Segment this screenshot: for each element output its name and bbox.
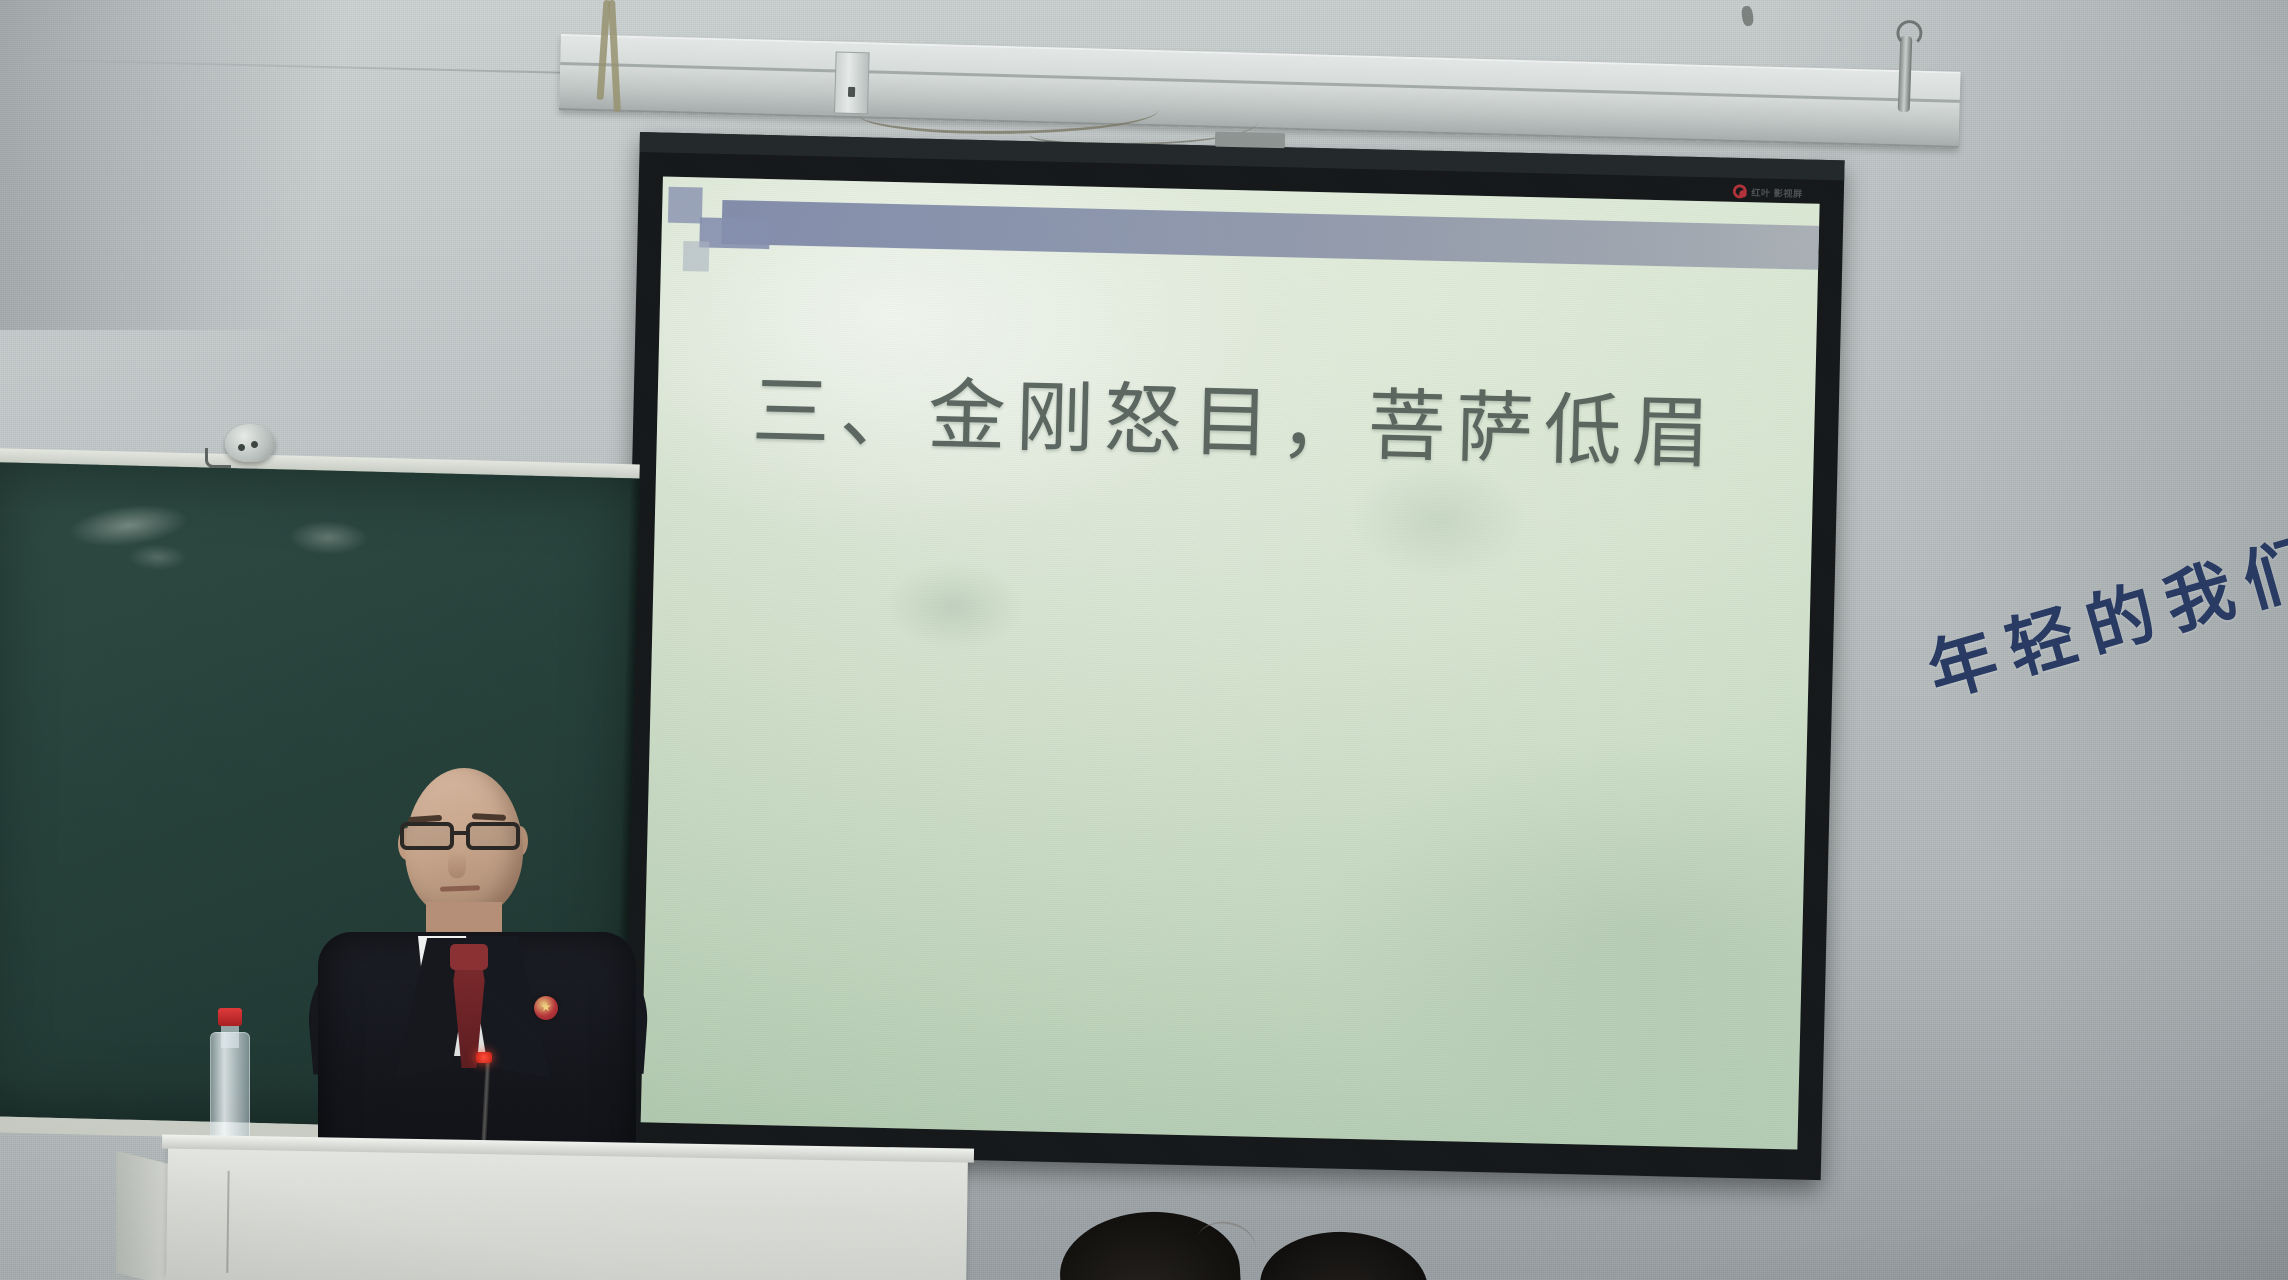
podium-left-face bbox=[116, 1151, 174, 1280]
chalk-smudge-b bbox=[288, 520, 369, 556]
brand-logo-icon bbox=[1733, 184, 1747, 198]
podium-seam bbox=[226, 1171, 229, 1273]
glasses-lens-left bbox=[400, 822, 454, 850]
necktie-knot bbox=[450, 944, 488, 970]
podium bbox=[166, 1146, 968, 1280]
screen-frame: 红叶 影视屏 三、金刚怒目，菩萨低眉 bbox=[616, 132, 1845, 1180]
sensor-lens-b bbox=[251, 441, 258, 448]
screen-roller-cap bbox=[1215, 132, 1285, 149]
lecture-hall-photo: 红叶 影视屏 三、金刚怒目，菩萨低眉 年轻的我们 bbox=[0, 0, 2288, 1280]
wall-sensor-icon bbox=[225, 424, 275, 462]
slide-decor-chip-b bbox=[683, 241, 710, 272]
glasses-icon bbox=[398, 822, 530, 852]
rail-groove bbox=[560, 62, 1960, 103]
wall-shadow-left bbox=[0, 0, 430, 330]
sensor-lens-a bbox=[238, 444, 245, 451]
brand-name-text: 红叶 影视屏 bbox=[1751, 185, 1803, 200]
lapel-badge-icon bbox=[534, 996, 558, 1020]
bottle-body bbox=[210, 1032, 250, 1148]
glasses-lens-right bbox=[466, 822, 520, 850]
slide-canvas: 三、金刚怒目，菩萨低眉 bbox=[641, 177, 1820, 1150]
microphone-indicator-light bbox=[476, 1052, 492, 1063]
water-bottle bbox=[210, 1000, 250, 1148]
screen-brand-label: 红叶 影视屏 bbox=[1733, 184, 1803, 199]
slide-decor-chip-a bbox=[668, 187, 703, 224]
projection-screen[interactable]: 红叶 影视屏 三、金刚怒目，菩萨低眉 bbox=[616, 132, 1845, 1180]
slide-header-band-step bbox=[699, 217, 770, 249]
chalk-smudge-c bbox=[127, 544, 188, 572]
presenter bbox=[300, 760, 650, 1160]
projection-grain bbox=[641, 177, 1820, 1150]
projection-smudge-a bbox=[883, 560, 1025, 653]
nose bbox=[448, 852, 466, 878]
bottle-cap bbox=[218, 1008, 242, 1026]
